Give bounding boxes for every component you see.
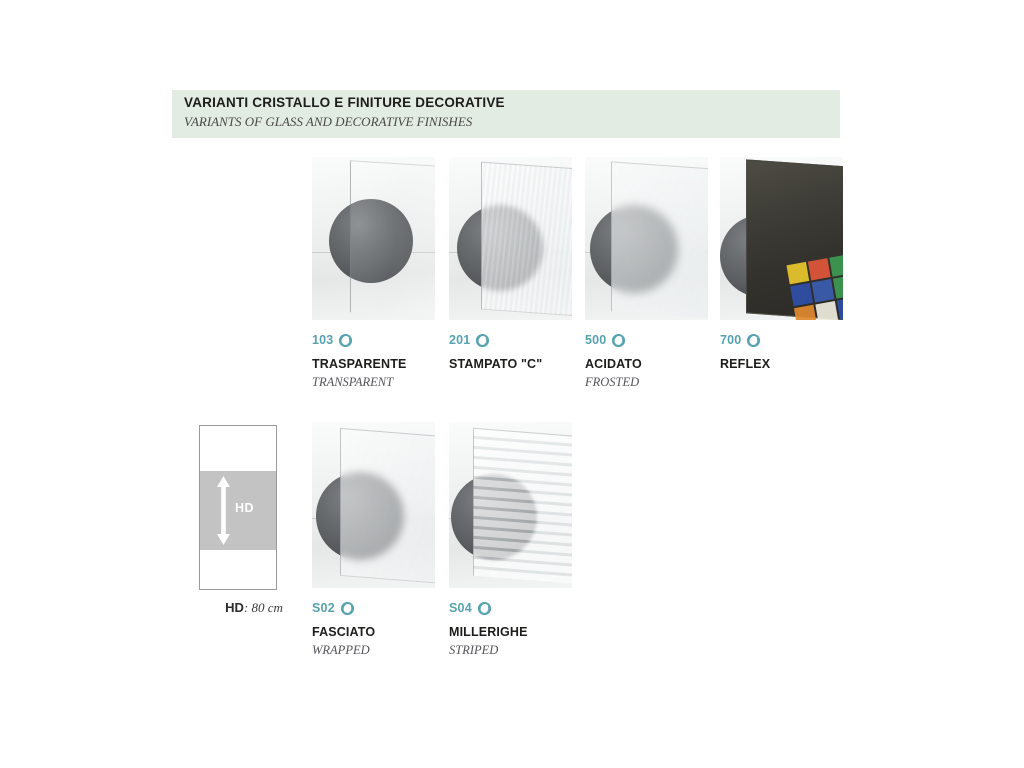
- code-line: 201: [449, 332, 572, 348]
- sample-name-italian: STAMPATO "C": [449, 357, 572, 371]
- glass-drop-icon: [338, 333, 353, 348]
- sample-code: 103: [312, 333, 333, 347]
- glass-sample-fasciato-thumbnail[interactable]: [312, 422, 435, 588]
- section-title-italian: VARIANTI CRISTALLO E FINITURE DECORATIVE: [184, 95, 505, 110]
- glass-drop-icon: [475, 333, 490, 348]
- caption-block: 700 REFLEX: [720, 332, 843, 371]
- sample-name-italian: FASCIATO: [312, 625, 435, 639]
- glass-sample-reflex-thumbnail[interactable]: [720, 157, 843, 320]
- caption-block: S02 FASCIATO WRAPPED: [312, 600, 435, 658]
- glass-sample-millerighe-thumbnail[interactable]: [449, 422, 572, 588]
- sample-name-english: WRAPPED: [312, 643, 435, 658]
- caption-block: 500 ACIDATO FROSTED: [585, 332, 708, 390]
- code-line: 103: [312, 332, 435, 348]
- sample-code: S04: [449, 601, 472, 615]
- sample-code: 700: [720, 333, 741, 347]
- glass-drop-icon: [746, 333, 761, 348]
- sample-name-italian: ACIDATO: [585, 357, 708, 371]
- sample-code: S02: [312, 601, 335, 615]
- reflex-mirror-panel: [746, 159, 843, 320]
- sample-card-s02[interactable]: S02 FASCIATO WRAPPED: [312, 422, 435, 658]
- sample-name-italian: TRASPARENTE: [312, 357, 435, 371]
- section-title-english: VARIANTS OF GLASS AND DECORATIVE FINISHE…: [184, 114, 472, 130]
- glass-panel-overlay: [611, 161, 708, 318]
- color-chips-reflection: [786, 254, 843, 320]
- sample-name-english: STRIPED: [449, 643, 572, 658]
- glass-sample-transparent-thumbnail[interactable]: [312, 157, 435, 320]
- sample-code: 201: [449, 333, 470, 347]
- sample-card-103[interactable]: 103 TRASPARENTE TRANSPARENT: [312, 157, 435, 390]
- sample-card-201[interactable]: 201 STAMPATO "C": [449, 157, 572, 375]
- glass-sample-stampato-c-thumbnail[interactable]: [449, 157, 572, 320]
- glass-panel-overlay: [481, 162, 572, 317]
- section-header-band: VARIANTI CRISTALLO E FINITURE DECORATIVE…: [172, 90, 840, 138]
- code-line: S02: [312, 600, 435, 616]
- sample-name-english: TRANSPARENT: [312, 375, 435, 390]
- sample-name-english: FROSTED: [585, 375, 708, 390]
- sample-code: 500: [585, 333, 606, 347]
- sample-card-700[interactable]: 700 REFLEX: [720, 157, 843, 375]
- glass-sample-acidato-thumbnail[interactable]: [585, 157, 708, 320]
- caption-block: 103 TRASPARENTE TRANSPARENT: [312, 332, 435, 390]
- caption-block: S04 MILLERIGHE STRIPED: [449, 600, 572, 658]
- double-arrow-vertical-icon: [216, 476, 231, 545]
- sample-card-500[interactable]: 500 ACIDATO FROSTED: [585, 157, 708, 390]
- hd-inner-label: HD: [235, 501, 254, 515]
- hd-caption-value: : 80 cm: [244, 600, 283, 615]
- glass-drop-icon: [477, 601, 492, 616]
- glass-panel-overlay: [473, 428, 572, 584]
- code-line: S04: [449, 600, 572, 616]
- glass-panel-overlay: [340, 428, 435, 584]
- glass-drop-icon: [611, 333, 626, 348]
- hd-caption: HD: 80 cm: [194, 600, 314, 616]
- hd-dimension-diagram: HD: [199, 425, 277, 590]
- hd-caption-key: HD: [225, 600, 244, 615]
- code-line: 700: [720, 332, 843, 348]
- caption-block: 201 STAMPATO "C": [449, 332, 572, 371]
- code-line: 500: [585, 332, 708, 348]
- sample-name-italian: REFLEX: [720, 357, 843, 371]
- glass-panel-overlay: [350, 160, 435, 318]
- glass-drop-icon: [340, 601, 355, 616]
- sample-name-italian: MILLERIGHE: [449, 625, 572, 639]
- sample-card-s04[interactable]: S04 MILLERIGHE STRIPED: [449, 422, 572, 658]
